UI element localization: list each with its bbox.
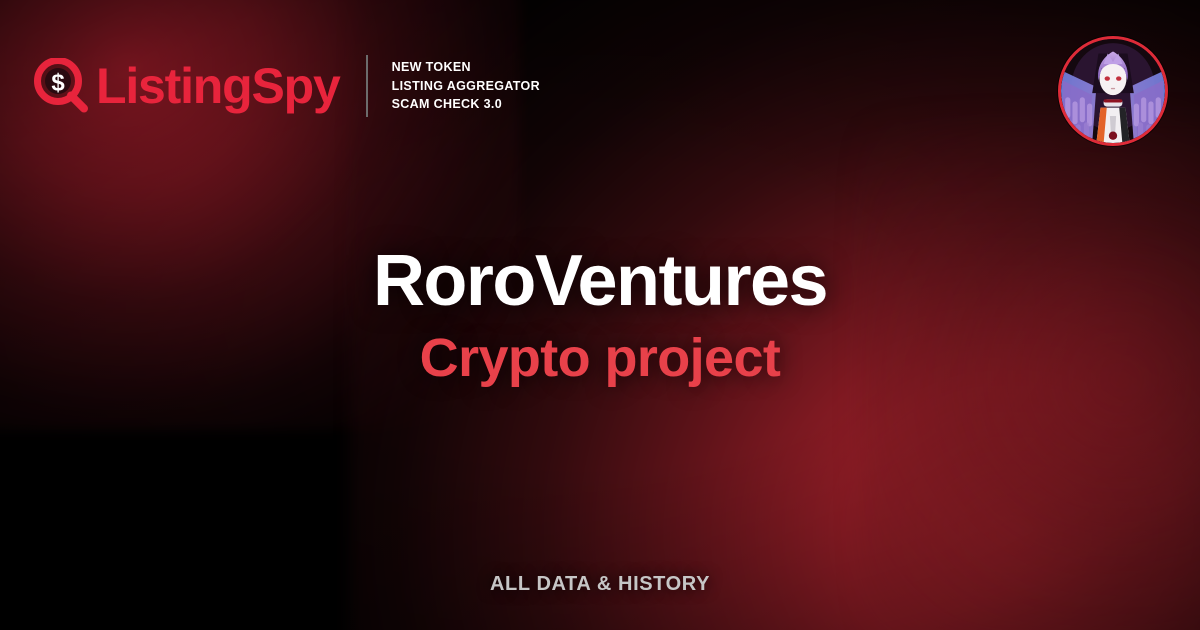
footer: ALL DATA & HISTORY: [0, 573, 1200, 596]
brand-lockup[interactable]: $ ListingSpy NEW TOKEN LISTING AGGREGATO…: [34, 55, 540, 117]
brand-tagline: NEW TOKEN LISTING AGGREGATOR SCAM CHECK …: [392, 58, 540, 114]
header: $ ListingSpy NEW TOKEN LISTING AGGREGATO…: [0, 0, 1200, 175]
brand-wordmark-spy: Spy: [251, 58, 339, 114]
project-hero: RoroVentures Crypto project: [0, 245, 1200, 387]
tagline-line-1: NEW TOKEN: [392, 60, 471, 74]
svg-text:$: $: [51, 70, 65, 97]
page-title: RoroVentures: [0, 245, 1200, 318]
tagline-line-2: LISTING AGGREGATOR: [392, 79, 540, 93]
share-card: $ ListingSpy NEW TOKEN LISTING AGGREGATO…: [0, 0, 1200, 630]
brand-wordmark-listing: Listing: [96, 58, 251, 114]
brand-divider: [366, 55, 368, 117]
project-avatar[interactable]: [1058, 36, 1168, 146]
project-category: Crypto project: [0, 330, 1200, 387]
brand-wordmark: ListingSpy: [96, 61, 340, 111]
footer-caption: ALL DATA & HISTORY: [0, 573, 1200, 596]
tagline-line-3: SCAM CHECK 3.0: [392, 97, 502, 111]
magnifier-dollar-icon: $: [34, 58, 90, 114]
